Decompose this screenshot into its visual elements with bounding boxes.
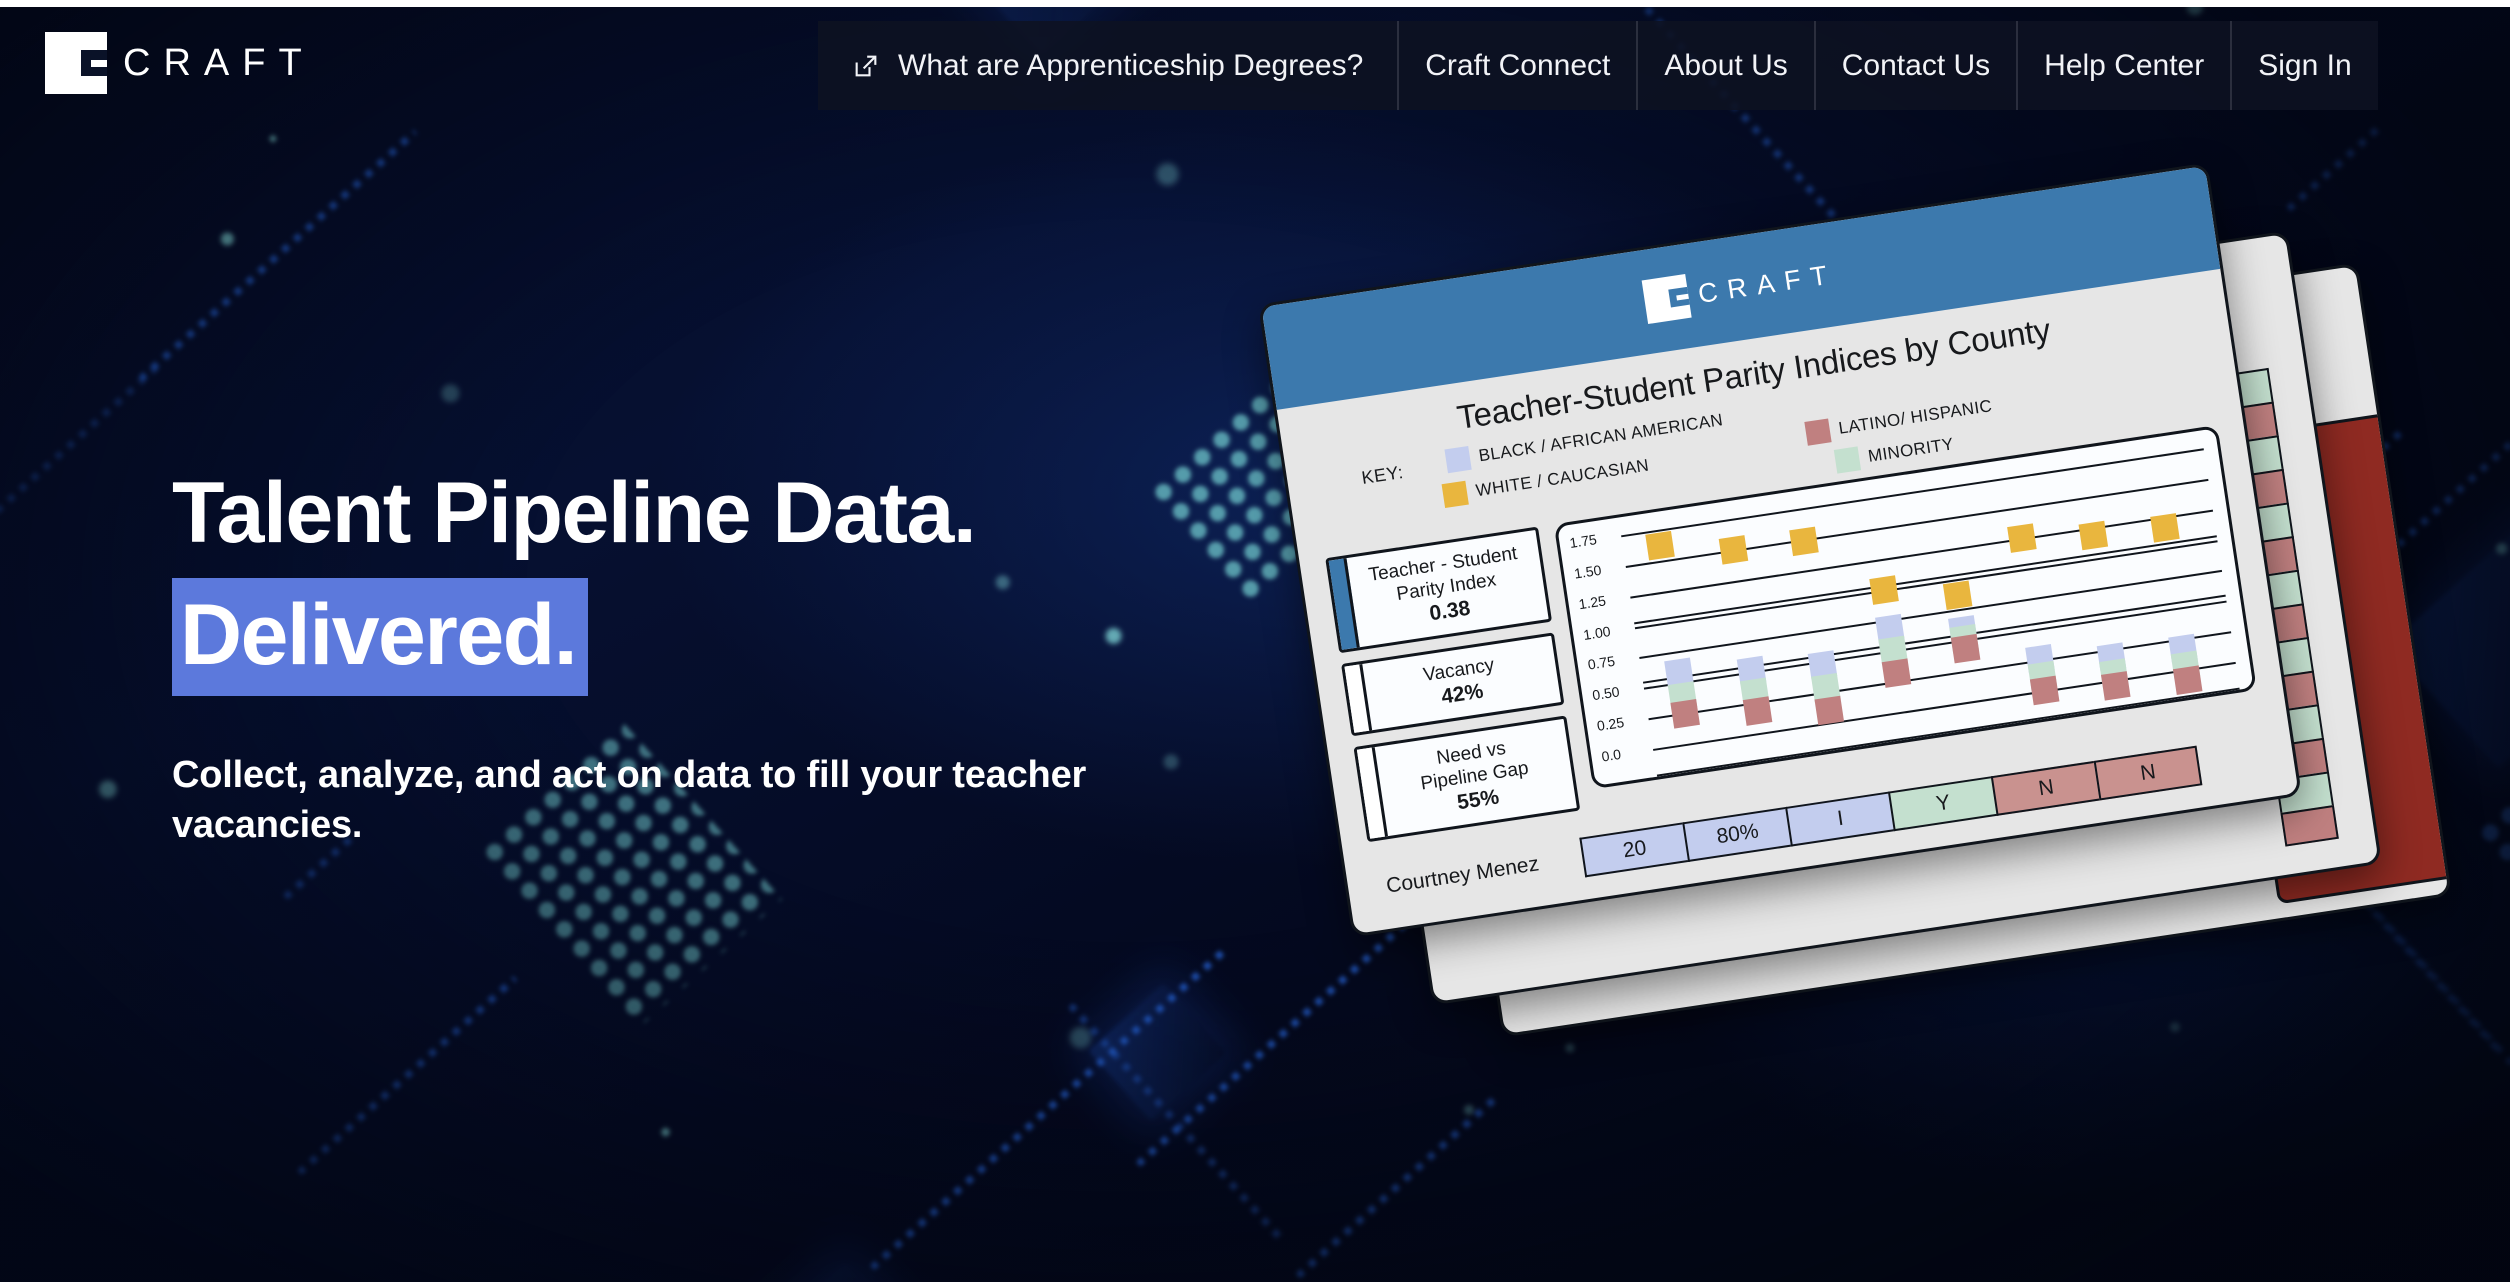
hero-subheadline: Collect, analyze, and act on data to fil… [172, 750, 1092, 850]
legend-label: MINORITY [1867, 434, 1955, 467]
chart-ytick-label: 0.0 [1600, 746, 1622, 765]
logo-wordmark: CRAFT [123, 44, 315, 82]
nav-item-help-center[interactable]: Help Center [2018, 21, 2232, 110]
chart-point [1790, 527, 1820, 557]
page-root: CRAFT What are Apprenticeship Degrees?Cr… [0, 0, 2510, 1282]
legend-swatch [1804, 418, 1831, 445]
kpi-accent-bar [1344, 664, 1372, 733]
chart-ytick-label: 1.00 [1582, 623, 1611, 643]
nav-item-label: Sign In [2258, 49, 2351, 83]
record-cell-1: 80% [1682, 807, 1791, 862]
legend-key-label: KEY: [1360, 462, 1405, 489]
chart-point [1718, 535, 1748, 565]
chart-point [1742, 696, 1772, 726]
chart-point [1951, 634, 1981, 664]
record-cell-4: N [1991, 761, 2100, 816]
dashboard-logo: CRAFT [1642, 252, 1840, 324]
chart-ytick-label: 0.25 [1596, 714, 1625, 734]
main-navigation[interactable]: What are Apprenticeship Degrees?Craft Co… [818, 21, 2378, 110]
hero-copy: Talent Pipeline Data. Delivered. Collect… [172, 470, 1172, 850]
dashboard-logo-wordmark: CRAFT [1696, 258, 1839, 309]
record-cell-3: Y [1888, 776, 1997, 831]
external-link-icon [852, 52, 880, 80]
chart-ytick-label: 1.25 [1578, 592, 1607, 612]
chart-point [1869, 575, 1899, 605]
dashboard-card-stack: CRAFT Teacher-Student Parity Indices by … [1300, 230, 2420, 1060]
kpi-accent-bar [1357, 747, 1388, 839]
legend-swatch [1442, 481, 1469, 508]
chart-point [1670, 699, 1700, 729]
record-cell-0: 20 [1579, 822, 1688, 877]
hero-headline-line1: Talent Pipeline Data. [172, 470, 1172, 556]
nav-item-label: What are Apprenticeship Degrees? [898, 49, 1363, 83]
nav-item-label: Craft Connect [1425, 49, 1610, 83]
record-cell-2: I [1785, 792, 1894, 847]
teacher-name: Courtney Menez [1385, 852, 1541, 899]
chart-point [2101, 671, 2131, 701]
chart-ytick-label: 1.75 [1568, 531, 1597, 551]
kpi-tile-2: Need vsPipeline Gap55% [1353, 715, 1580, 842]
chart-point [2079, 521, 2109, 551]
nav-item-craft-connect[interactable]: Craft Connect [1399, 21, 1638, 110]
kpi-list: Teacher - StudentParity Index0.38Vacancy… [1325, 527, 1580, 842]
chart-point [2150, 513, 2180, 543]
chart-point [1645, 531, 1675, 561]
legend-item-2: LATINO/ HISPANIC [1804, 394, 1994, 446]
kpi-accent-bar [1329, 558, 1360, 650]
top-white-strip [0, 0, 2510, 7]
chart-point [1815, 695, 1845, 725]
legend-label: LATINO/ HISPANIC [1837, 396, 1993, 439]
nav-item-label: Help Center [2044, 49, 2204, 83]
craft-logo-mark-icon [45, 32, 107, 94]
chart-point [2007, 523, 2037, 553]
nav-item-label: About Us [1664, 49, 1787, 83]
status-cell [2280, 805, 2338, 847]
chart-point [1943, 580, 1973, 610]
site-logo[interactable]: CRAFT [45, 32, 315, 94]
legend-swatch [1834, 446, 1861, 473]
nav-item-sign-in[interactable]: Sign In [2232, 21, 2377, 110]
chart-ytick-label: 0.50 [1591, 684, 1620, 704]
record-cell-5: N [2094, 746, 2203, 801]
chart-point [2029, 676, 2059, 706]
legend-swatch [1444, 446, 1471, 473]
chart-ytick-label: 1.50 [1573, 562, 1602, 582]
nav-item-contact-us[interactable]: Contact Us [1816, 21, 2018, 110]
craft-logo-mark-icon-small [1642, 274, 1692, 324]
hero-headline-highlight: Delivered. [172, 578, 588, 696]
nav-item-about-us[interactable]: About Us [1638, 21, 1815, 110]
nav-item-label: Contact Us [1842, 49, 1990, 83]
chart-point [2173, 665, 2203, 695]
chart-ytick-label: 0.75 [1587, 653, 1616, 673]
nav-item-what-are-apprenticeship-degrees[interactable]: What are Apprenticeship Degrees? [818, 21, 1399, 110]
chart-point [1882, 658, 1912, 688]
